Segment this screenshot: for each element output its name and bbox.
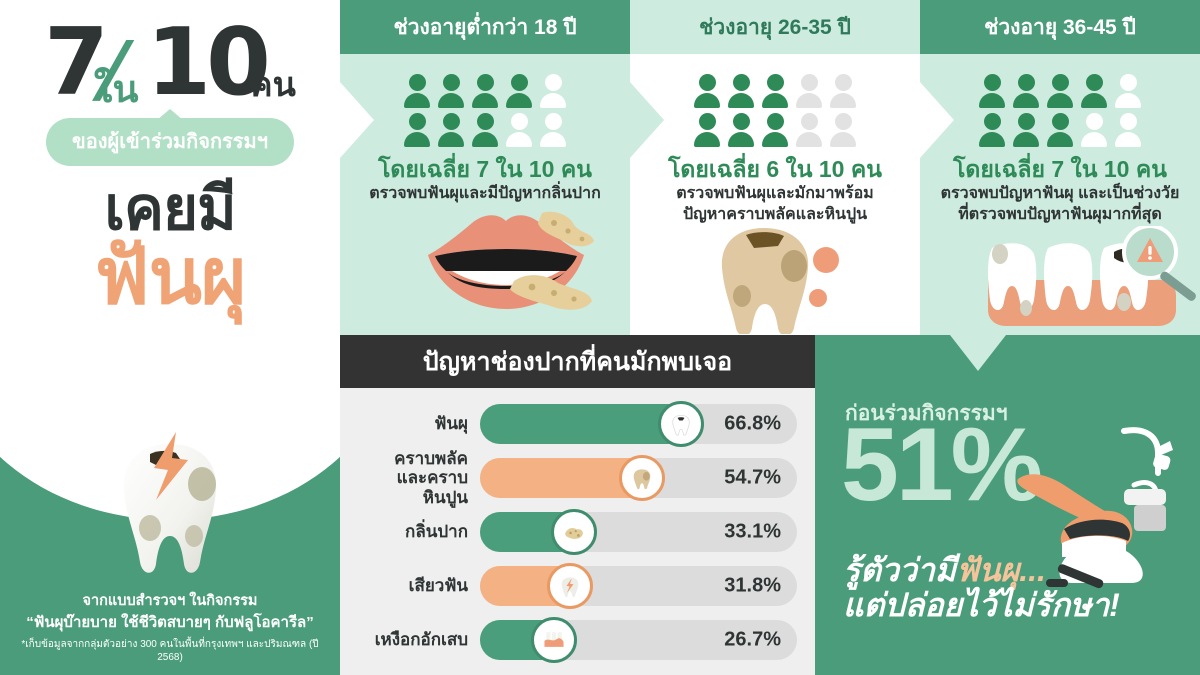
ratio-nai-label: ใน bbox=[94, 58, 139, 119]
people-pictogram bbox=[340, 74, 630, 147]
person-icon bbox=[830, 113, 856, 147]
person-icon bbox=[404, 74, 430, 108]
bad-breath-icon bbox=[551, 509, 597, 555]
people-row bbox=[694, 113, 856, 147]
bar-track: 54.7% bbox=[480, 458, 797, 498]
person-icon bbox=[979, 113, 1005, 147]
ratio-headline: 7 / ใน 10 คน bbox=[0, 18, 340, 112]
person-icon bbox=[1081, 113, 1107, 147]
decayed-tooth-icon bbox=[110, 432, 230, 582]
know-line-2: แต่ปล่อยไว้ไม่รักษา! bbox=[843, 588, 1200, 623]
headline-fan-phu: ฟันผุ bbox=[0, 239, 340, 313]
avg-subtitle: ตรวจพบฟันผุและมีปัญหากลิ่นปาก bbox=[340, 184, 630, 205]
pill-notch-triangle bbox=[157, 109, 183, 120]
chart-title-bar: ปัญหาช่องปากที่คนมักพบเจอ bbox=[340, 335, 815, 388]
bar-label: ฟันผุ bbox=[352, 414, 480, 434]
age-panel-36-45: โดยเฉลี่ย 7 ใน 10 คน ตรวจพบปัญหาฟันผุ แล… bbox=[920, 54, 1200, 335]
teeth-gums-magnifier-icon bbox=[964, 226, 1200, 335]
right-stat-panel: ก่อนร่วมกิจกรรมฯ 51% รู้ตัวว่ามีฟันผุ...… bbox=[815, 335, 1200, 675]
person-icon bbox=[728, 113, 754, 147]
bar-label: เหงือกอักเสบ bbox=[352, 630, 480, 650]
headline-block: 7 / ใน 10 คน ของผู้เข้าร่วมกิจกรรมฯ เคยม… bbox=[0, 18, 340, 313]
person-icon bbox=[438, 113, 464, 147]
headline-khoey-mee: เคยมี bbox=[0, 180, 340, 237]
panel-notch-triangle bbox=[950, 335, 1006, 371]
people-row bbox=[404, 74, 566, 108]
bar-track: 31.8% bbox=[480, 566, 797, 606]
pill-wrap: ของผู้เข้าร่วมกิจกรรมฯ bbox=[0, 118, 340, 166]
source-line-2: “ฟันผุบ๊ายบาย ใช้ชีวิตสบายๆ กับฟลูโอคารี… bbox=[14, 613, 326, 633]
people-pictogram bbox=[630, 74, 920, 147]
left-hero-panel: 7 / ใน 10 คน ของผู้เข้าร่วมกิจกรรมฯ เคยม… bbox=[0, 0, 340, 675]
source-footnote: *เก็บข้อมูลจากกลุ่มตัวอย่าง 300 คนในพื้น… bbox=[14, 638, 326, 664]
person-icon bbox=[506, 113, 532, 147]
source-line-1: จากแบบสำรวจฯ ในกิจกรรม bbox=[14, 592, 326, 612]
bar-value: 33.1% bbox=[724, 521, 781, 544]
age-panel-26-35: โดยเฉลี่ย 6 ใน 10 คน ตรวจพบฟันผุและมักมา… bbox=[630, 54, 920, 335]
person-icon bbox=[1115, 74, 1141, 108]
person-icon bbox=[1013, 74, 1039, 108]
person-icon bbox=[694, 74, 720, 108]
avg-title: โดยเฉลี่ย 7 ใน 10 คน bbox=[920, 152, 1200, 188]
avg-title: โดยเฉลี่ย 7 ใน 10 คน bbox=[340, 152, 630, 188]
person-icon bbox=[472, 74, 498, 108]
bar-label: กลิ่นปาก bbox=[352, 522, 480, 542]
bar-value: 66.8% bbox=[724, 413, 781, 436]
people-row bbox=[979, 74, 1141, 108]
ratio-khon-label: คน bbox=[250, 57, 296, 111]
chart-row: คราบพลัค และคราบหินปูน 54.7% bbox=[352, 454, 797, 502]
source-block: จากแบบสำรวจฯ ในกิจกรรม “ฟันผุบ๊ายบาย ใช้… bbox=[14, 592, 326, 664]
tooth-icon bbox=[658, 401, 704, 447]
people-row bbox=[979, 113, 1141, 147]
chart-title: ปัญหาช่องปากที่คนมักพบเจอ bbox=[423, 342, 732, 382]
age-header-36-45: ช่วงอายุ 36-45 ปี bbox=[920, 0, 1200, 54]
person-icon bbox=[506, 74, 532, 108]
infographic-root: 7 / ใน 10 คน ของผู้เข้าร่วมกิจกรรมฯ เคยม… bbox=[0, 0, 1200, 675]
person-icon bbox=[404, 113, 430, 147]
person-icon bbox=[540, 74, 566, 108]
bar-value: 54.7% bbox=[724, 467, 781, 490]
person-icon bbox=[979, 74, 1005, 108]
chart-body: ฟันผุ 66.8% คราบพลัค และคราบหินปูน 54.7%… bbox=[340, 388, 815, 675]
age-header-under-18: ช่วงอายุต่ำกว่า 18 ปี bbox=[340, 0, 630, 54]
person-icon bbox=[438, 74, 464, 108]
bar-label: คราบพลัค และคราบหินปูน bbox=[352, 449, 480, 508]
person-icon bbox=[540, 113, 566, 147]
bar-track: 26.7% bbox=[480, 620, 797, 660]
plaque-tooth-icon bbox=[619, 455, 665, 501]
participants-pill: ของผู้เข้าร่วมกิจกรรมฯ bbox=[46, 118, 294, 166]
ratio-denominator: 10 bbox=[146, 18, 265, 106]
bar-value: 31.8% bbox=[724, 575, 781, 598]
know-line-1b-highlight: ฟันผุ... bbox=[956, 552, 1046, 588]
bar-label: เสียวฟัน bbox=[352, 576, 480, 596]
avg-subtitle: ตรวจพบฟันผุและมักมาพร้อม ปัญหาคราบพลัคแล… bbox=[630, 184, 920, 226]
people-pictogram bbox=[920, 74, 1200, 147]
chart-row: กลิ่นปาก 33.1% bbox=[352, 508, 797, 556]
person-icon bbox=[830, 74, 856, 108]
person-icon bbox=[694, 113, 720, 147]
know-line-1: รู้ตัวว่ามีฟันผุ... bbox=[843, 553, 1200, 588]
person-icon bbox=[1081, 74, 1107, 108]
person-icon bbox=[796, 113, 822, 147]
person-icon bbox=[762, 74, 788, 108]
person-icon bbox=[1047, 113, 1073, 147]
avg-subtitle: ตรวจพบปัญหาฟันผุ และเป็นช่วงวัย ที่ตรวจพ… bbox=[920, 184, 1200, 226]
decayed-tooth-icon bbox=[702, 222, 852, 334]
chart-row: เหงือกอักเสบ 26.7% bbox=[352, 616, 797, 664]
person-icon bbox=[1115, 113, 1141, 147]
lips-with-plaque-icon bbox=[402, 209, 607, 334]
people-row bbox=[694, 74, 856, 108]
avg-title: โดยเฉลี่ย 6 ใน 10 คน bbox=[630, 152, 920, 188]
person-icon bbox=[728, 74, 754, 108]
gum-inflammation-icon bbox=[531, 617, 577, 663]
person-icon bbox=[762, 113, 788, 147]
sensitive-tooth-icon bbox=[547, 563, 593, 609]
chart-row: ฟันผุ 66.8% bbox=[352, 400, 797, 448]
person-icon bbox=[796, 74, 822, 108]
bar-value: 26.7% bbox=[724, 629, 781, 652]
person-icon bbox=[472, 113, 498, 147]
bar-track: 33.1% bbox=[480, 512, 797, 552]
age-header-26-35: ช่วงอายุ 26-35 ปี bbox=[630, 0, 920, 54]
know-line-1a: รู้ตัวว่ามี bbox=[843, 552, 956, 588]
person-icon bbox=[1047, 74, 1073, 108]
person-icon bbox=[1013, 113, 1039, 147]
people-row bbox=[404, 113, 566, 147]
chart-row: เสียวฟัน 31.8% bbox=[352, 562, 797, 610]
bar-track: 66.8% bbox=[480, 404, 797, 444]
know-message: รู้ตัวว่ามีฟันผุ... แต่ปล่อยไว้ไม่รักษา! bbox=[843, 553, 1200, 622]
age-panel-under-18: โดยเฉลี่ย 7 ใน 10 คน ตรวจพบฟันผุและมีปัญ… bbox=[340, 54, 630, 335]
